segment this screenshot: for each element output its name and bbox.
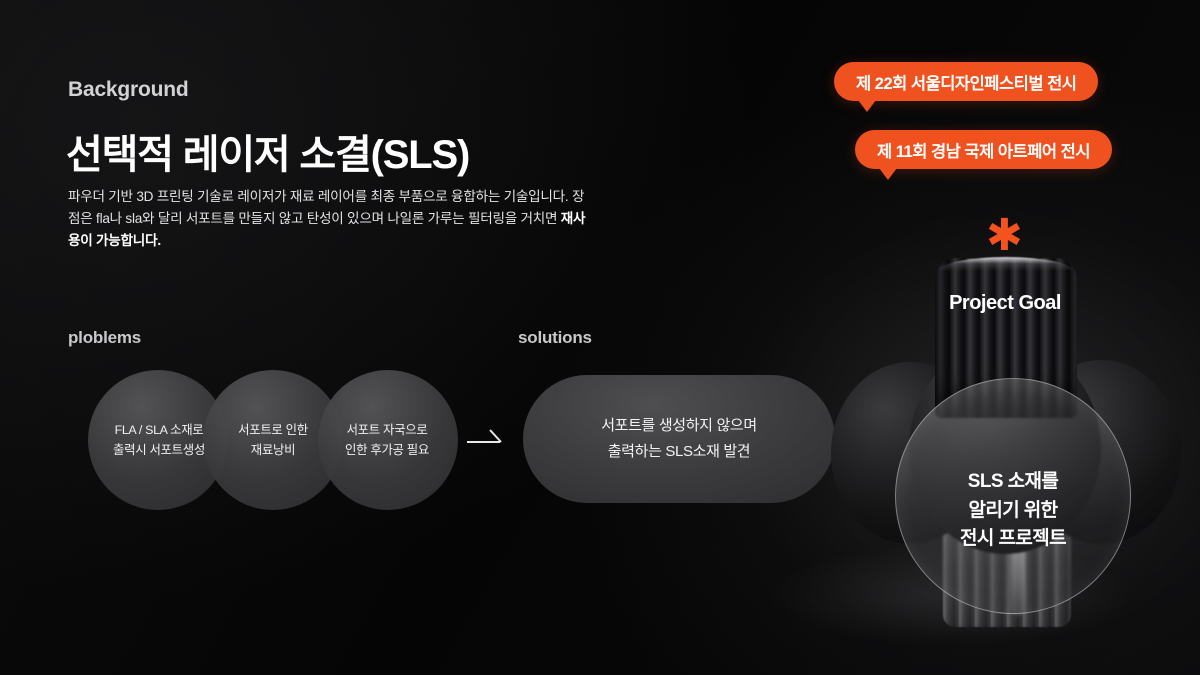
slide-canvas: Background 선택적 레이저 소결(SLS) 파우더 기반 3D 프린팅…	[0, 0, 1200, 675]
problems-blob: FLA / SLA 소재로 출력시 서포트생성 서포트로 인한 재료낭비 서포트…	[88, 370, 458, 510]
body-paragraph: 파우더 기반 3D 프린팅 기술로 레이저가 재료 레이어를 최종 부품으로 융…	[68, 186, 588, 252]
solutions-caption: solutions	[518, 328, 592, 348]
exhibition-badge-2-label: 제 11회 경남 국제 아트페어 전시	[877, 138, 1090, 162]
goal-glass-disc: SLS 소재를 알리기 위한 전시 프로젝트	[895, 378, 1131, 614]
problem-item-3: 서포트 자국으로 인한 후가공 필요	[330, 420, 444, 460]
exhibition-badge-1-label: 제 22회 서울디자인페스티벌 전시	[856, 70, 1076, 94]
exhibition-badge-2[interactable]: 제 11회 경남 국제 아트페어 전시	[855, 130, 1112, 169]
problems-text-row: FLA / SLA 소재로 출력시 서포트생성 서포트로 인한 재료낭비 서포트…	[88, 370, 458, 510]
project-goal-label: Project Goal	[825, 292, 1185, 315]
problem-item-1: FLA / SLA 소재로 출력시 서포트생성	[102, 420, 216, 460]
exhibition-badge-1[interactable]: 제 22회 서울디자인페스티벌 전시	[834, 62, 1098, 101]
asterisk-icon: ✱	[986, 216, 1016, 256]
solutions-text: 서포트를 생성하지 않으며 출력하는 SLS소재 발견	[601, 413, 757, 465]
page-title: 선택적 레이저 소결(SLS)	[66, 122, 469, 180]
goal-text: SLS 소재를 알리기 위한 전시 프로젝트	[960, 468, 1066, 555]
section-eyebrow: Background	[68, 78, 189, 102]
problems-caption: ploblems	[68, 328, 141, 348]
arrow-right-icon	[466, 425, 510, 449]
solutions-pill: 서포트를 생성하지 않으며 출력하는 SLS소재 발견	[523, 375, 835, 503]
body-paragraph-text: 파우더 기반 3D 프린팅 기술로 레이저가 재료 레이어를 최종 부품으로 융…	[68, 189, 584, 226]
problem-item-2: 서포트로 인한 재료낭비	[216, 420, 330, 460]
